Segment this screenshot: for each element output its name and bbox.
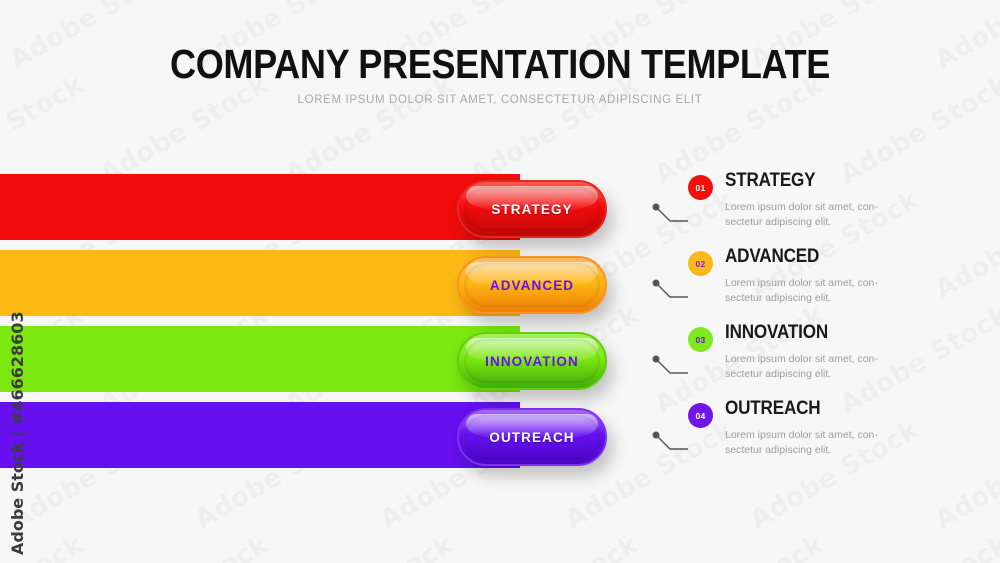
number-badge-02: 02 [688,251,713,276]
connector-line-icon [650,276,690,306]
info-item-description: Lorem ipsum dolor sit amet, con-sectetur… [725,352,895,382]
color-bar-strategy [0,174,520,240]
info-list: 01STRATEGYLorem ipsum dolor sit amet, co… [650,170,990,474]
bar-row: STRATEGY [0,174,620,240]
page-title: COMPANY PRESENTATION TEMPLATE [60,42,940,86]
info-item-strategy[interactable]: 01STRATEGYLorem ipsum dolor sit amet, co… [650,170,990,246]
pill-button-advanced[interactable]: ADVANCED [457,256,607,314]
bars-area: STRATEGYADVANCEDINNOVATIONOUTREACH [0,174,620,474]
badge-number: 02 [695,259,705,269]
info-item-description: Lorem ipsum dolor sit amet, con-sectetur… [725,428,895,458]
info-item-description: Lorem ipsum dolor sit amet, con-sectetur… [725,200,895,230]
bar-row: ADVANCED [0,250,620,316]
color-bar-outreach [0,402,520,468]
info-item-title: ADVANCED [725,246,819,268]
color-bar-innovation [0,326,520,392]
info-item-description: Lorem ipsum dolor sit amet, con-sectetur… [725,276,895,306]
badge-number: 03 [695,335,705,345]
connector-line-icon [650,352,690,382]
info-item-outreach[interactable]: 04OUTREACHLorem ipsum dolor sit amet, co… [650,398,990,474]
info-item-title: STRATEGY [725,170,815,192]
watermark-text: Adobe Stock [650,530,829,563]
number-badge-03: 03 [688,327,713,352]
watermark-text: Adobe Stock [95,530,274,563]
badge-number: 01 [695,183,705,193]
connector-line-icon [650,200,690,230]
pill-button-strategy[interactable]: STRATEGY [457,180,607,238]
pill-label: OUTREACH [489,430,574,445]
info-item-innovation[interactable]: 03INNOVATIONLorem ipsum dolor sit amet, … [650,322,990,398]
badge-number: 04 [695,411,705,421]
page-subtitle: LOREM IPSUM DOLOR SIT AMET, CONSECTETUR … [0,94,1000,106]
pill-button-outreach[interactable]: OUTREACH [457,408,607,466]
header: COMPANY PRESENTATION TEMPLATE LOREM IPSU… [0,0,1000,106]
color-bar-advanced [0,250,520,316]
stock-id-watermark: Adobe Stock | #466628603 [8,311,27,555]
pill-label: INNOVATION [485,354,579,369]
bar-row: OUTREACH [0,402,620,468]
watermark-text: Adobe Stock [835,530,1000,563]
info-item-title: INNOVATION [725,322,828,344]
number-badge-04: 04 [688,403,713,428]
bar-row: INNOVATION [0,326,620,392]
pill-button-innovation[interactable]: INNOVATION [457,332,607,390]
info-item-advanced[interactable]: 02ADVANCEDLorem ipsum dolor sit amet, co… [650,246,990,322]
watermark-text: Adobe Stock [465,530,644,563]
pill-label: ADVANCED [490,278,574,293]
info-item-title: OUTREACH [725,398,820,420]
number-badge-01: 01 [688,175,713,200]
pill-label: STRATEGY [491,202,572,217]
connector-line-icon [650,428,690,458]
watermark-text: Adobe Stock [280,530,459,563]
